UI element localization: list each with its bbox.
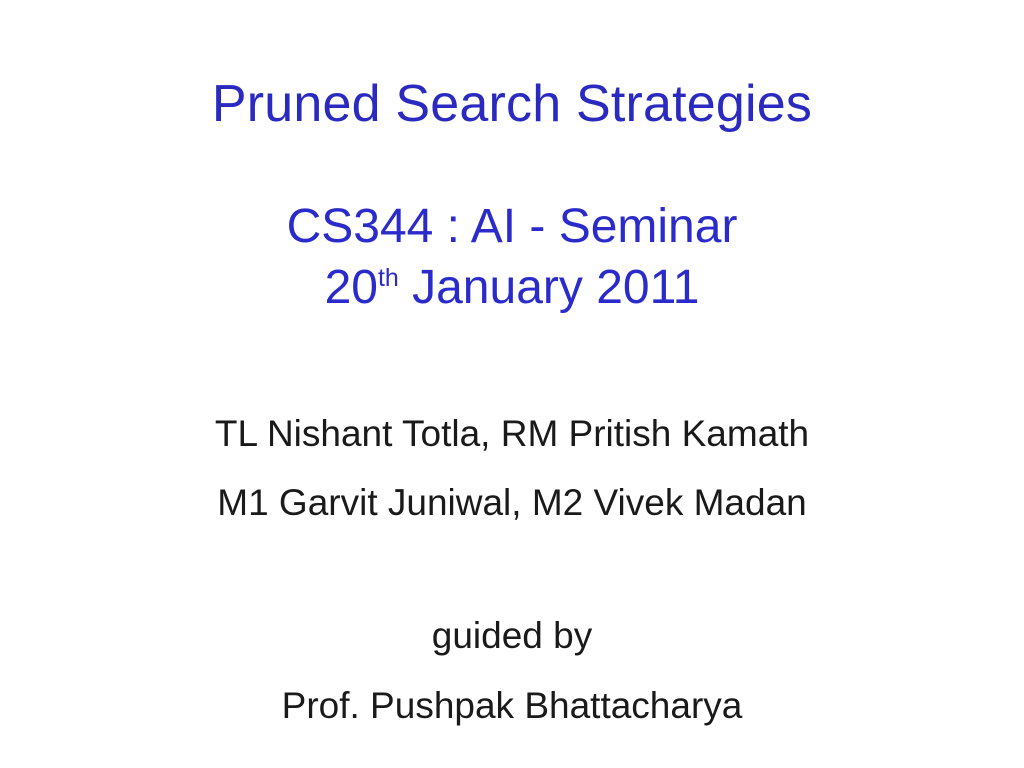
slide-title: Pruned Search Strategies xyxy=(0,74,1024,134)
title-spacer xyxy=(0,134,1024,196)
date-day-number: 20 xyxy=(325,261,378,314)
date-ordinal-suffix: th xyxy=(378,264,399,292)
guided-by-label: guided by xyxy=(0,601,1024,671)
body-block: TL Nishant Totla, RM Pritish Kamath M1 G… xyxy=(0,399,1024,741)
presenter-line-m1-m2: M1 Garvit Juniwal, M2 Vivek Madan xyxy=(0,468,1024,537)
guide-name: Prof. Pushpak Bhattacharya xyxy=(0,671,1024,741)
title-slide: Pruned Search Strategies CS344 : AI - Se… xyxy=(0,0,1024,768)
course-seminar-line: CS344 : AI - Seminar xyxy=(0,196,1024,258)
body-gap-spacer xyxy=(0,537,1024,601)
presenter-line-tl-rm: TL Nishant Totla, RM Pritish Kamath xyxy=(0,399,1024,468)
date-month-year: January 2011 xyxy=(399,261,700,314)
presentation-date-line: 20th January 2011 xyxy=(0,258,1024,318)
title-block: Pruned Search Strategies CS344 : AI - Se… xyxy=(0,74,1024,318)
